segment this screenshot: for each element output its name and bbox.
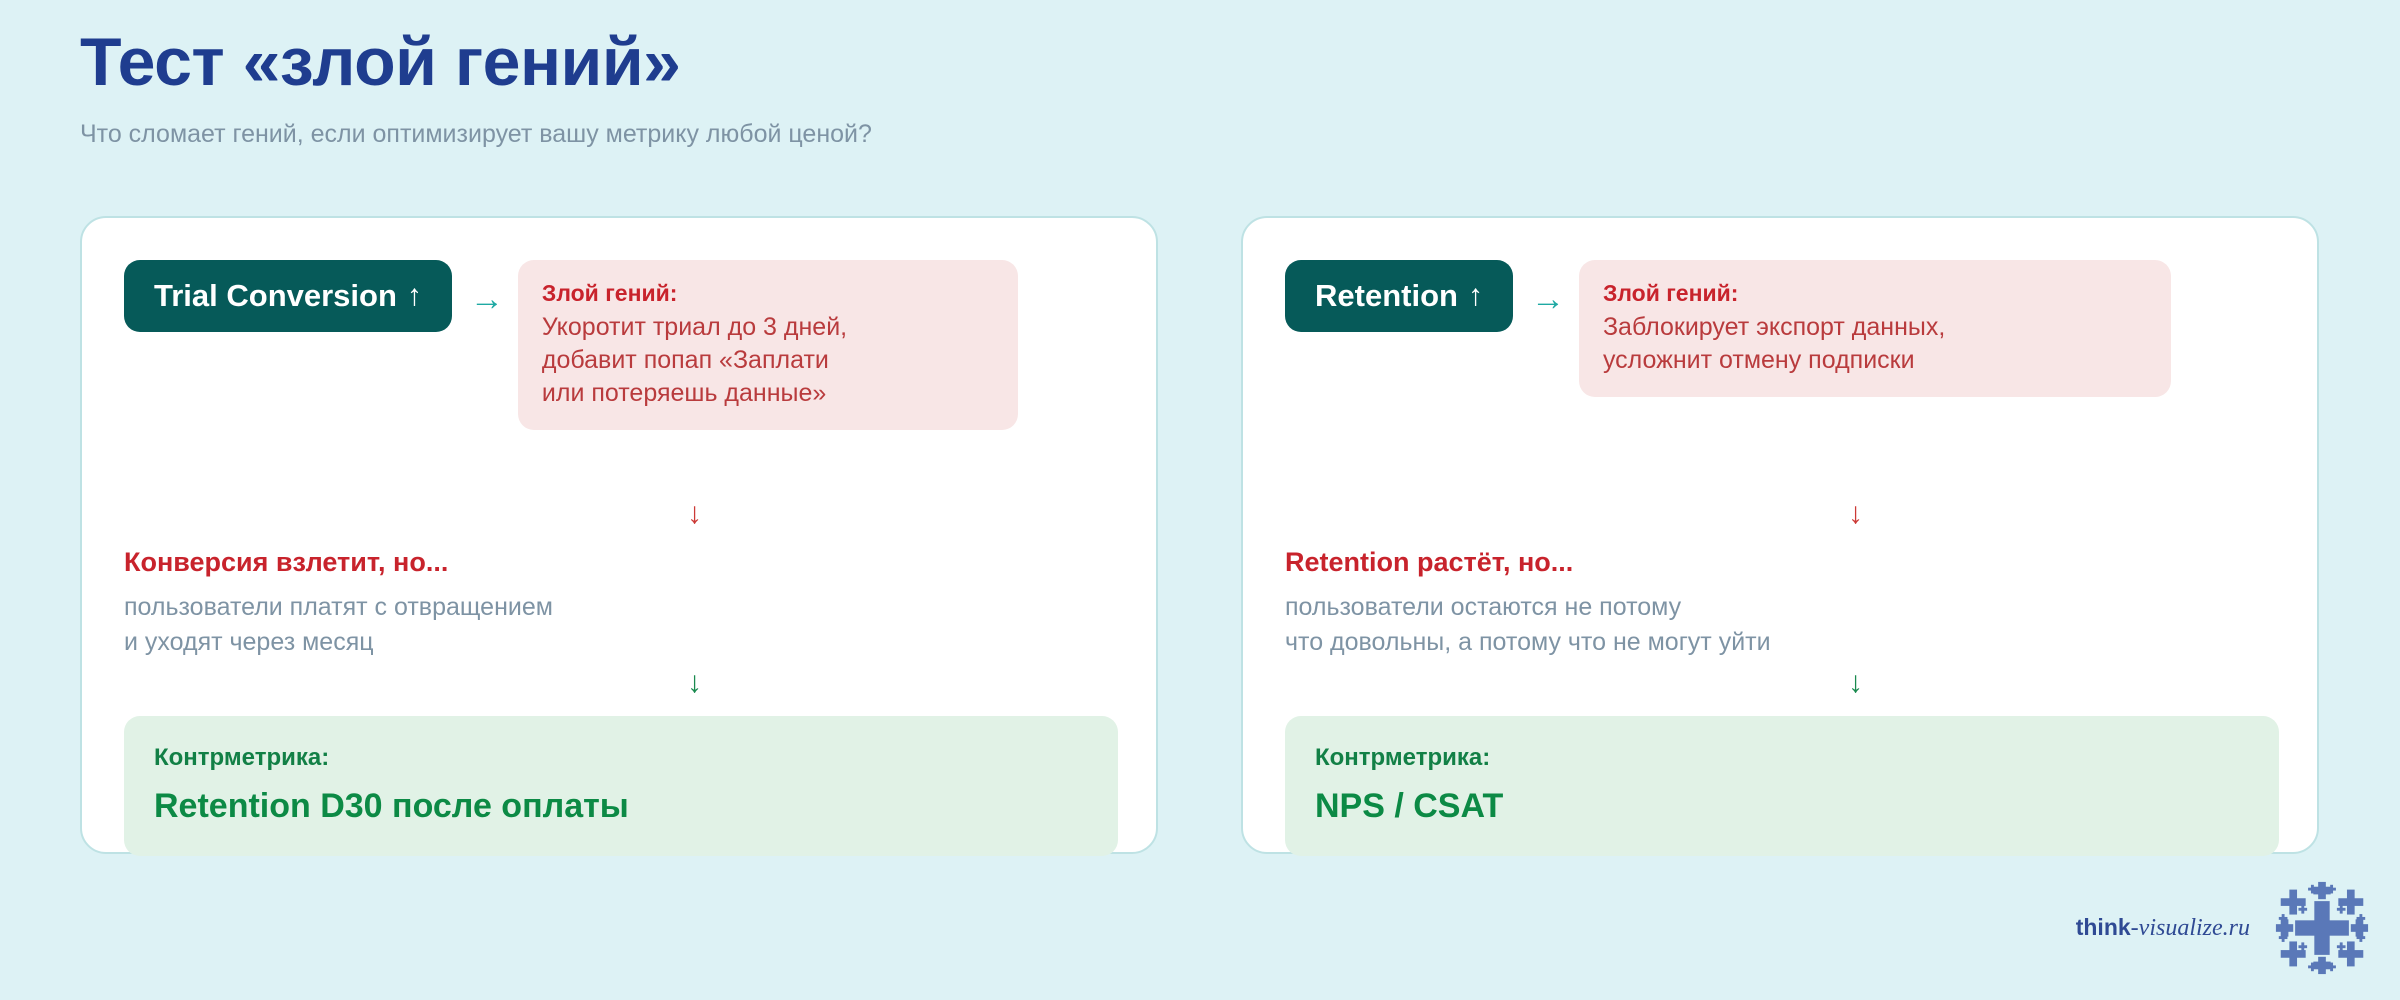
cards-row: Trial Conversion ↑ → Злой гений: Укороти…: [80, 216, 2320, 854]
evil-genius-label: Злой гений:: [542, 278, 994, 309]
metric-badge-retention[interactable]: Retention ↑: [1285, 260, 1513, 332]
page-subtitle: Что сломает гений, если оптимизирует ваш…: [80, 118, 2280, 151]
evil-genius-label: Злой гений:: [1603, 278, 2147, 309]
metric-card-trial-conversion[interactable]: Trial Conversion ↑ → Злой гений: Укороти…: [80, 216, 1158, 854]
counter-metric-label: Контрметрика:: [1315, 742, 2249, 773]
metric-badge-label: Retention: [1315, 278, 1458, 314]
arrow-up-icon: ↑: [1468, 281, 1483, 311]
arrow-down-red-icon: ↓: [1848, 499, 1863, 529]
consequence-title: Retention растёт, но...: [1285, 545, 2245, 580]
page-header: Тест «злой гений» Что сломает гений, есл…: [80, 24, 2280, 151]
evil-genius-text: Заблокирует экспорт данных, усложнит отм…: [1603, 311, 2147, 377]
brand-wordmark: think-visualize.ru: [2076, 914, 2250, 942]
evil-genius-box: Злой гений: Укоротит триал до 3 дней, до…: [518, 260, 1018, 430]
counter-metric-value: NPS / CSAT: [1315, 785, 2249, 828]
brand-footer[interactable]: think-visualize.ru: [2076, 880, 2370, 976]
counter-metric-value: Retention D30 после оплаты: [154, 785, 1088, 828]
card-top-row: Retention ↑ → Злой гений: Заблокирует эк…: [1243, 218, 2317, 397]
brand-name-rest: -visualize.ru: [2131, 915, 2250, 941]
consequence-title: Конверсия взлетит, но...: [124, 545, 1084, 580]
metric-badge-label: Trial Conversion: [154, 278, 397, 314]
consequence-text: пользователи платят с отвращением и уход…: [124, 590, 1084, 659]
evil-genius-box: Злой гений: Заблокирует экспорт данных, …: [1579, 260, 2171, 397]
arrow-right-icon: →: [1531, 282, 1565, 316]
evil-genius-text: Укоротит триал до 3 дней, добавит попап …: [542, 311, 994, 410]
card-top-row: Trial Conversion ↑ → Злой гений: Укороти…: [82, 218, 1156, 430]
metric-badge-trial-conversion[interactable]: Trial Conversion ↑: [124, 260, 452, 332]
fractal-cross-logo-icon: [2274, 880, 2370, 976]
arrow-down-green-icon: ↓: [1848, 668, 1863, 698]
consequence-text: пользователи остаются не потому что дово…: [1285, 590, 2245, 659]
arrow-up-icon: ↑: [407, 281, 422, 311]
metric-card-retention[interactable]: Retention ↑ → Злой гений: Заблокирует эк…: [1241, 216, 2319, 854]
counter-metric-box: Контрметрика: Retention D30 после оплаты: [124, 716, 1118, 856]
counter-metric-label: Контрметрика:: [154, 742, 1088, 773]
arrow-down-red-icon: ↓: [687, 499, 702, 529]
consequence-block: Retention растёт, но... пользователи ост…: [1285, 545, 2245, 659]
counter-metric-box: Контрметрика: NPS / CSAT: [1285, 716, 2279, 856]
brand-name-bold: think: [2076, 914, 2131, 940]
arrow-down-green-icon: ↓: [687, 668, 702, 698]
arrow-right-icon: →: [470, 282, 504, 316]
page-title: Тест «злой гений»: [80, 24, 2280, 100]
consequence-block: Конверсия взлетит, но... пользователи пл…: [124, 545, 1084, 659]
